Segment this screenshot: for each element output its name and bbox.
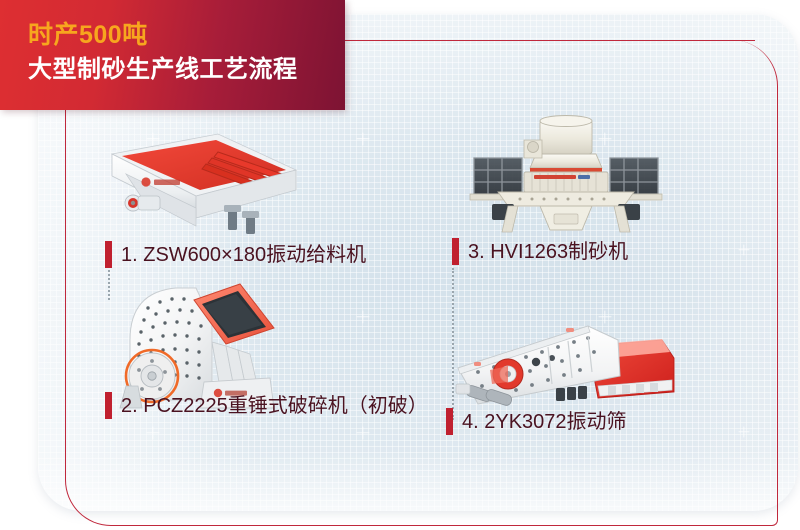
vibrating-feeder-image	[100, 126, 300, 234]
product-cell-4: 4. 2YK3072振动筛	[448, 300, 678, 418]
product-cell-3: 3. HVI1263制砂机	[462, 114, 682, 236]
product-label-text: 2. PCZ2225重锤式破碎机（初破）	[121, 396, 428, 416]
product-label-1: 1. ZSW600×180振动给料机	[105, 241, 366, 268]
sparkle-decoration	[356, 132, 369, 145]
vibrating-screen-image	[448, 300, 676, 416]
title-banner: 时产500吨 大型制砂生产线工艺流程	[0, 0, 345, 110]
label-accent-bar	[105, 241, 112, 268]
product-cell-1: 1. ZSW600×180振动给料机	[100, 126, 315, 236]
title-banner-text-group: 时产500吨 大型制砂生产线工艺流程	[28, 20, 298, 86]
label-accent-bar	[452, 238, 459, 265]
banner-headline-subtitle: 大型制砂生产线工艺流程	[28, 54, 298, 86]
product-cell-2: 2. PCZ2225重锤式破碎机（初破）	[108, 282, 328, 412]
sparkle-decoration	[738, 426, 749, 437]
sparkle-decoration	[146, 426, 159, 439]
banner-headline-capacity: 时产500吨	[28, 20, 298, 50]
product-label-text: 1. ZSW600×180振动给料机	[121, 245, 366, 265]
sparkle-decoration	[356, 426, 369, 439]
hammer-crusher-image	[108, 282, 318, 410]
vsi-sand-maker-image	[462, 114, 670, 234]
label-accent-bar	[446, 408, 453, 435]
sparkle-decoration	[738, 244, 749, 255]
product-label-4: 4. 2YK3072振动筛	[446, 408, 627, 435]
product-label-text: 4. 2YK3072振动筛	[462, 412, 627, 432]
product-label-3: 3. HVI1263制砂机	[452, 238, 628, 265]
sparkle-decoration	[356, 310, 369, 323]
infographic-root: 1. ZSW600×180振动给料机	[0, 0, 800, 530]
label-accent-bar	[105, 392, 112, 419]
panel-bottom-fade	[38, 451, 798, 511]
product-label-2: 2. PCZ2225重锤式破碎机（初破）	[105, 392, 428, 419]
product-label-text: 3. HVI1263制砂机	[468, 242, 628, 262]
